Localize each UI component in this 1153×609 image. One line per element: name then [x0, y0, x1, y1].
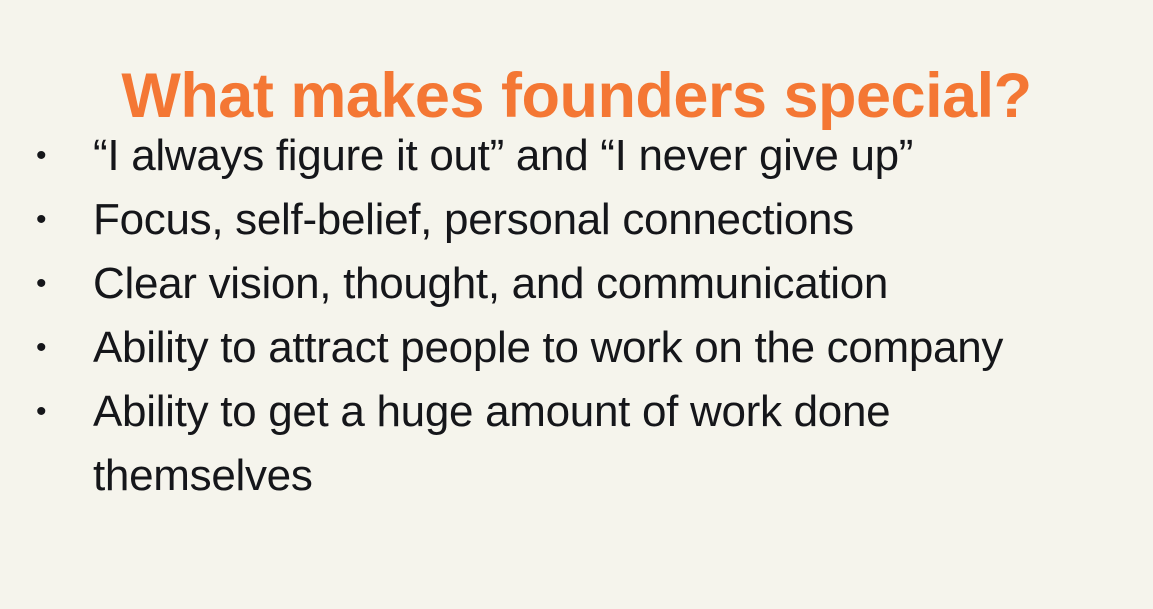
bullet-point-icon: • [36, 188, 48, 252]
list-item: • Ability to attract people to work on t… [0, 316, 1153, 380]
list-item-label: “I always figure it out” and “I never gi… [93, 124, 1113, 188]
bullet-point-icon: • [36, 380, 48, 444]
page-title: What makes founders special? [0, 62, 1153, 131]
bullet-list: • “I always figure it out” and “I never … [0, 124, 1153, 508]
list-item: • Ability to get a huge amount of work d… [0, 380, 1153, 508]
list-item-label: Clear vision, thought, and communication [93, 252, 1113, 316]
bullet-point-icon: • [36, 124, 48, 188]
bullet-point-icon: • [36, 316, 48, 380]
list-item-label: Ability to attract people to work on the… [93, 316, 1113, 380]
list-item: • Clear vision, thought, and communicati… [0, 252, 1153, 316]
bullet-point-icon: • [36, 252, 48, 316]
list-item: • Focus, self-belief, personal connectio… [0, 188, 1153, 252]
list-item: • “I always figure it out” and “I never … [0, 124, 1153, 188]
slide: What makes founders special? • “I always… [0, 0, 1153, 609]
list-item-label: Focus, self-belief, personal connections [93, 188, 1113, 252]
list-item-label: Ability to get a huge amount of work don… [93, 380, 1113, 508]
